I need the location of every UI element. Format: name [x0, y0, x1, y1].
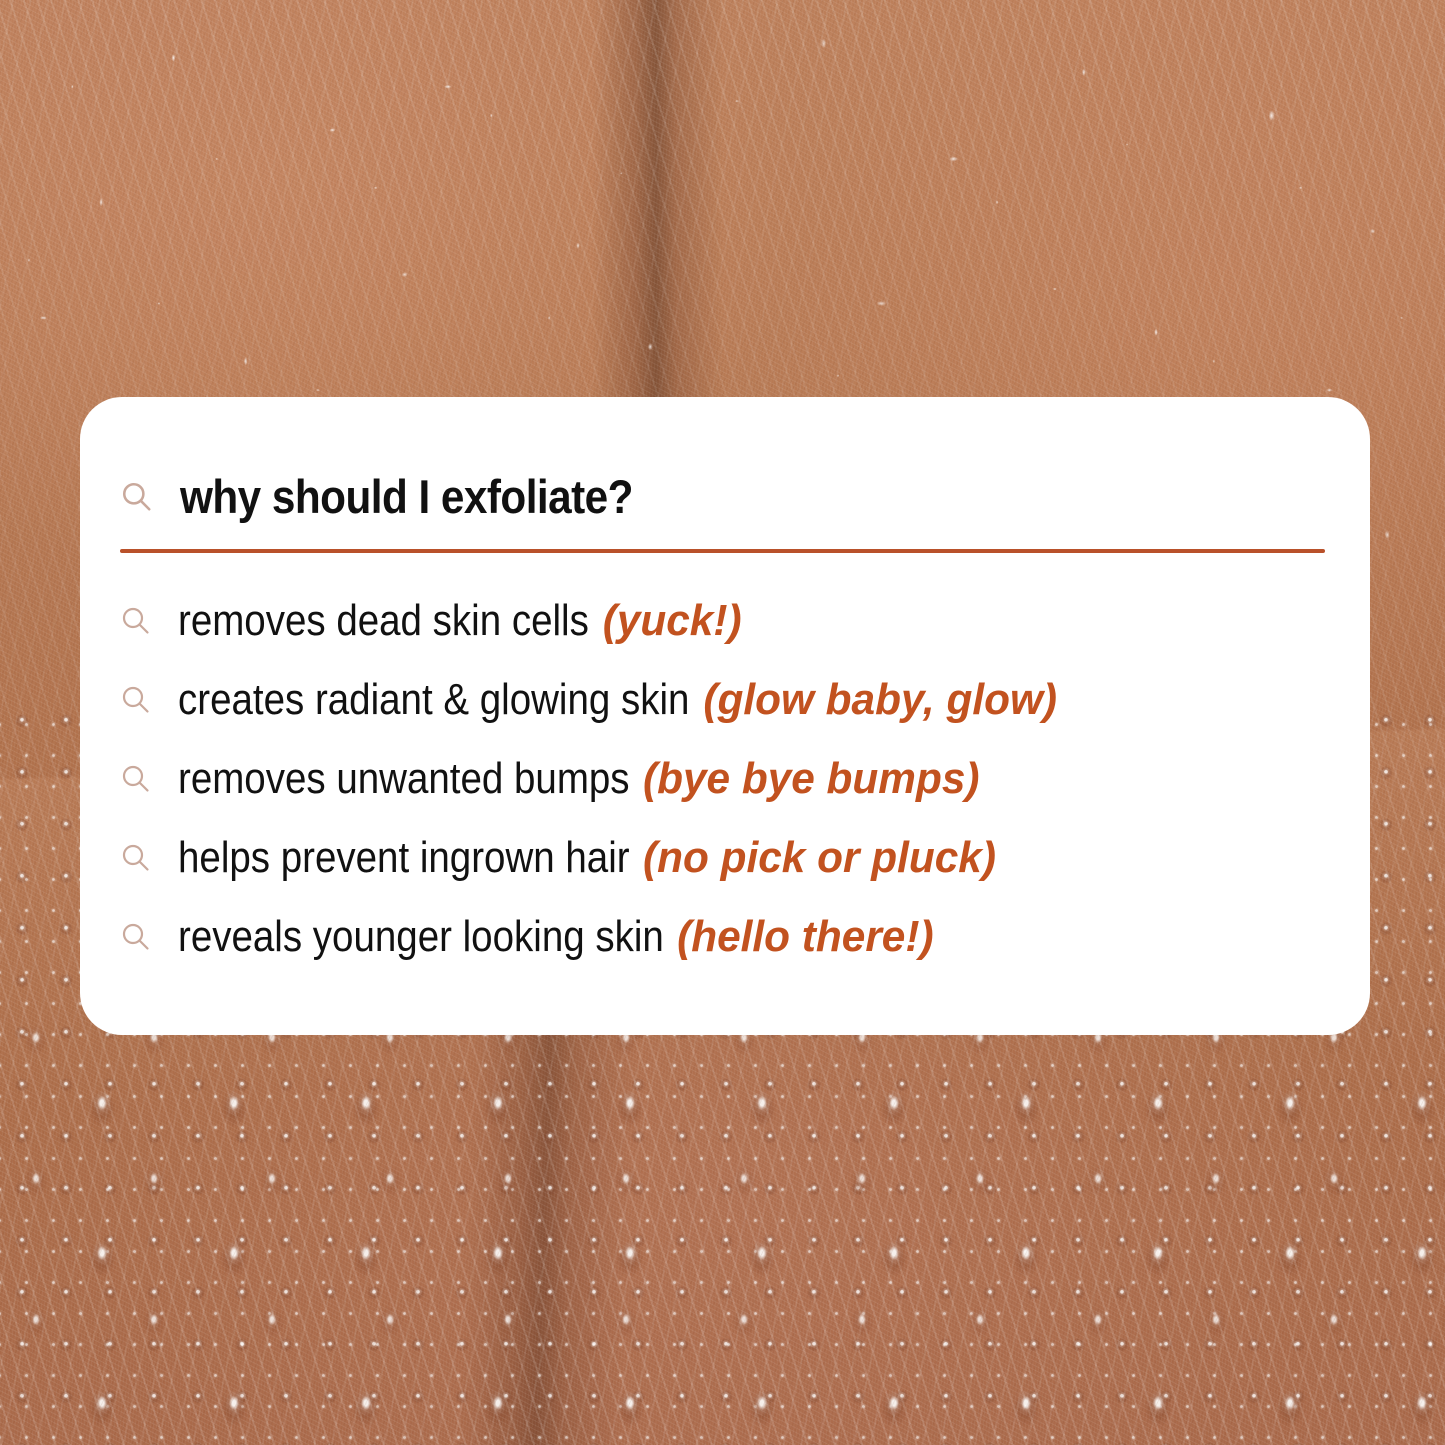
benefits-list: removes dead skin cells(yuck!) creates r… [80, 581, 1370, 976]
heading-divider [120, 549, 1325, 553]
list-item-label: creates radiant & glowing skin [178, 675, 689, 724]
search-icon [120, 763, 152, 795]
list-item-text: creates radiant & glowing skin(glow baby… [178, 678, 1023, 722]
search-icon [120, 684, 152, 716]
list-item[interactable]: removes unwanted bumps(bye bye bumps) [120, 739, 1370, 818]
card-heading-row: why should I exfoliate? [80, 397, 1370, 520]
list-item[interactable]: creates radiant & glowing skin(glow baby… [120, 660, 1370, 739]
list-item[interactable]: helps prevent ingrown hair(no pick or pl… [120, 818, 1370, 897]
list-item-accent: (bye bye bumps) [630, 757, 980, 801]
list-item-accent: (yuck!) [589, 599, 741, 643]
list-item-accent: (no pick or pluck) [630, 836, 996, 880]
list-item-text: reveals younger looking skin(hello there… [178, 915, 909, 959]
list-item-label: reveals younger looking skin [178, 912, 664, 961]
list-item-accent: (glow baby, glow) [689, 678, 1056, 722]
info-card: why should I exfoliate? removes dead ski… [80, 397, 1370, 1035]
search-icon [120, 921, 152, 953]
poster-canvas: why should I exfoliate? removes dead ski… [0, 0, 1445, 1445]
list-item[interactable]: reveals younger looking skin(hello there… [120, 897, 1370, 976]
list-item-label: removes dead skin cells [178, 596, 589, 645]
list-item-label: removes unwanted bumps [178, 754, 630, 803]
search-icon [120, 605, 152, 637]
list-item-text: removes dead skin cells(yuck!) [178, 599, 727, 643]
list-item-text: removes unwanted bumps(bye bye bumps) [178, 757, 948, 801]
search-icon [120, 480, 154, 514]
list-item-label: helps prevent ingrown hair [178, 833, 630, 882]
list-item-accent: (hello there!) [664, 915, 934, 959]
list-item[interactable]: removes dead skin cells(yuck!) [120, 581, 1370, 660]
search-icon [120, 842, 152, 874]
list-item-text: helps prevent ingrown hair(no pick or pl… [178, 836, 963, 880]
page-title: why should I exfoliate? [180, 473, 633, 520]
